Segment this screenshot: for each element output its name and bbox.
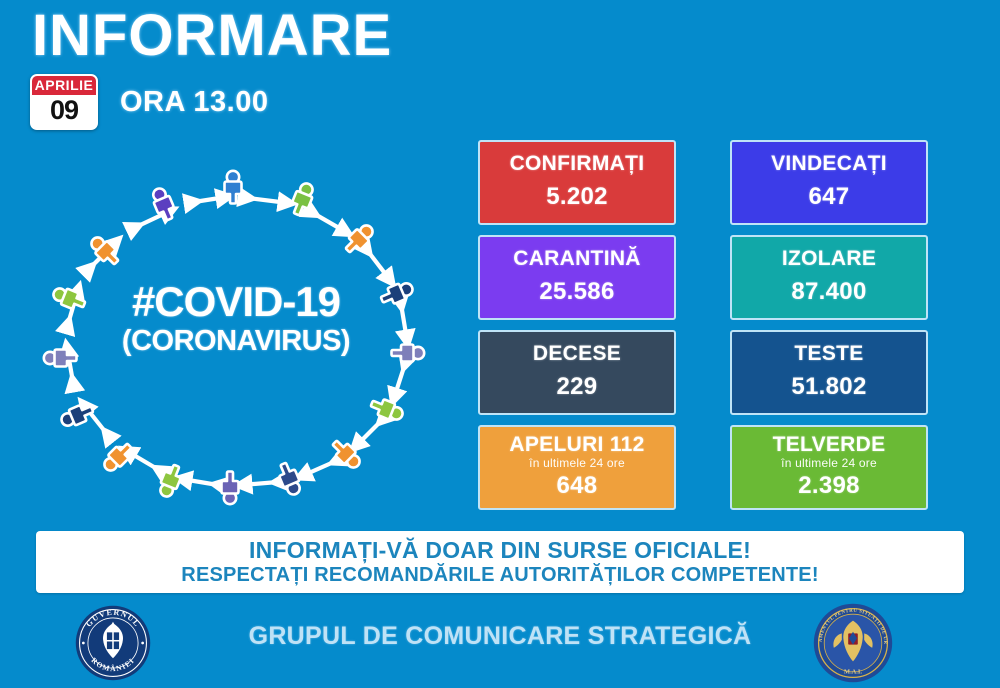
people-circle-svg: [26, 158, 446, 518]
stat-label: VINDECAȚI: [771, 152, 887, 176]
stat-card-teste[interactable]: TESTE 51.802: [730, 330, 928, 415]
stat-card-telverde[interactable]: TELVERDE în ultimele 24 ore 2.398: [730, 425, 928, 510]
stat-label: APELURI 112: [509, 433, 644, 457]
stat-label: CARANTINĂ: [513, 247, 641, 271]
stat-card-decese[interactable]: DECESE 229: [478, 330, 676, 415]
covid-people-circle-graphic: #COVID-19 (CORONAVIRUS): [26, 158, 446, 518]
page-title: INFORMARE: [32, 6, 392, 67]
stat-card-carantina[interactable]: CARANTINĂ 25.586: [478, 235, 676, 320]
calendar-icon: APRILIE 09: [30, 74, 98, 130]
stat-value: 5.202: [546, 183, 608, 211]
stat-sublabel: în ultimele 24 ore: [529, 456, 625, 470]
calendar-month-label: APRILIE: [32, 76, 96, 95]
stat-value: 647: [809, 183, 850, 211]
calendar-day-label: 09: [32, 95, 96, 128]
stat-label: CONFIRMAȚI: [510, 152, 645, 176]
date-time-row: APRILIE 09 ORA 13.00: [30, 74, 269, 130]
stat-value: 51.802: [791, 373, 866, 401]
notice-line-2: RESPECTAȚI RECOMANDĂRILE AUTORITĂȚILOR C…: [181, 563, 818, 587]
stat-sublabel: în ultimele 24 ore: [781, 456, 877, 470]
stat-label: DECESE: [533, 342, 621, 366]
stat-card-izolare[interactable]: IZOLARE 87.400: [730, 235, 928, 320]
stat-value: 87.400: [791, 278, 866, 306]
covid-informare-poster: INFORMARE APRILIE 09 ORA 13.00: [0, 0, 1000, 688]
svg-text:M.A.I.: M.A.I.: [844, 668, 862, 675]
notice-line-1: INFORMAȚI-VĂ DOAR DIN SURSE OFICIALE!: [249, 537, 751, 563]
stat-label: TESTE: [794, 342, 863, 366]
stat-label: TELVERDE: [773, 433, 886, 457]
statistics-grid: CONFIRMAȚI 5.202 VINDECAȚI 647 CARANTINĂ…: [478, 140, 930, 510]
stat-value: 648: [557, 472, 598, 500]
dsu-mai-emblem-icon: DEPARTAMENTUL PENTRU SITUAȚII DE URGENȚĂ…: [812, 603, 894, 683]
poster-header: INFORMARE APRILIE 09 ORA 13.00: [0, 0, 520, 140]
poster-footer: GUVERNUL ROMÂNIEI GRUPUL D: [0, 598, 1000, 688]
stat-card-confirmati[interactable]: CONFIRMAȚI 5.202: [478, 140, 676, 225]
stat-value: 25.586: [539, 278, 614, 306]
official-sources-notice: INFORMAȚI-VĂ DOAR DIN SURSE OFICIALE! RE…: [36, 531, 964, 593]
stat-value: 2.398: [798, 472, 860, 500]
stat-card-apeluri-112[interactable]: APELURI 112 în ultimele 24 ore 648: [478, 425, 676, 510]
stat-value: 229: [557, 373, 598, 401]
hour-label: ORA 13.00: [120, 86, 269, 119]
stat-card-vindecati[interactable]: VINDECAȚI 647: [730, 140, 928, 225]
stat-label: IZOLARE: [782, 247, 876, 271]
